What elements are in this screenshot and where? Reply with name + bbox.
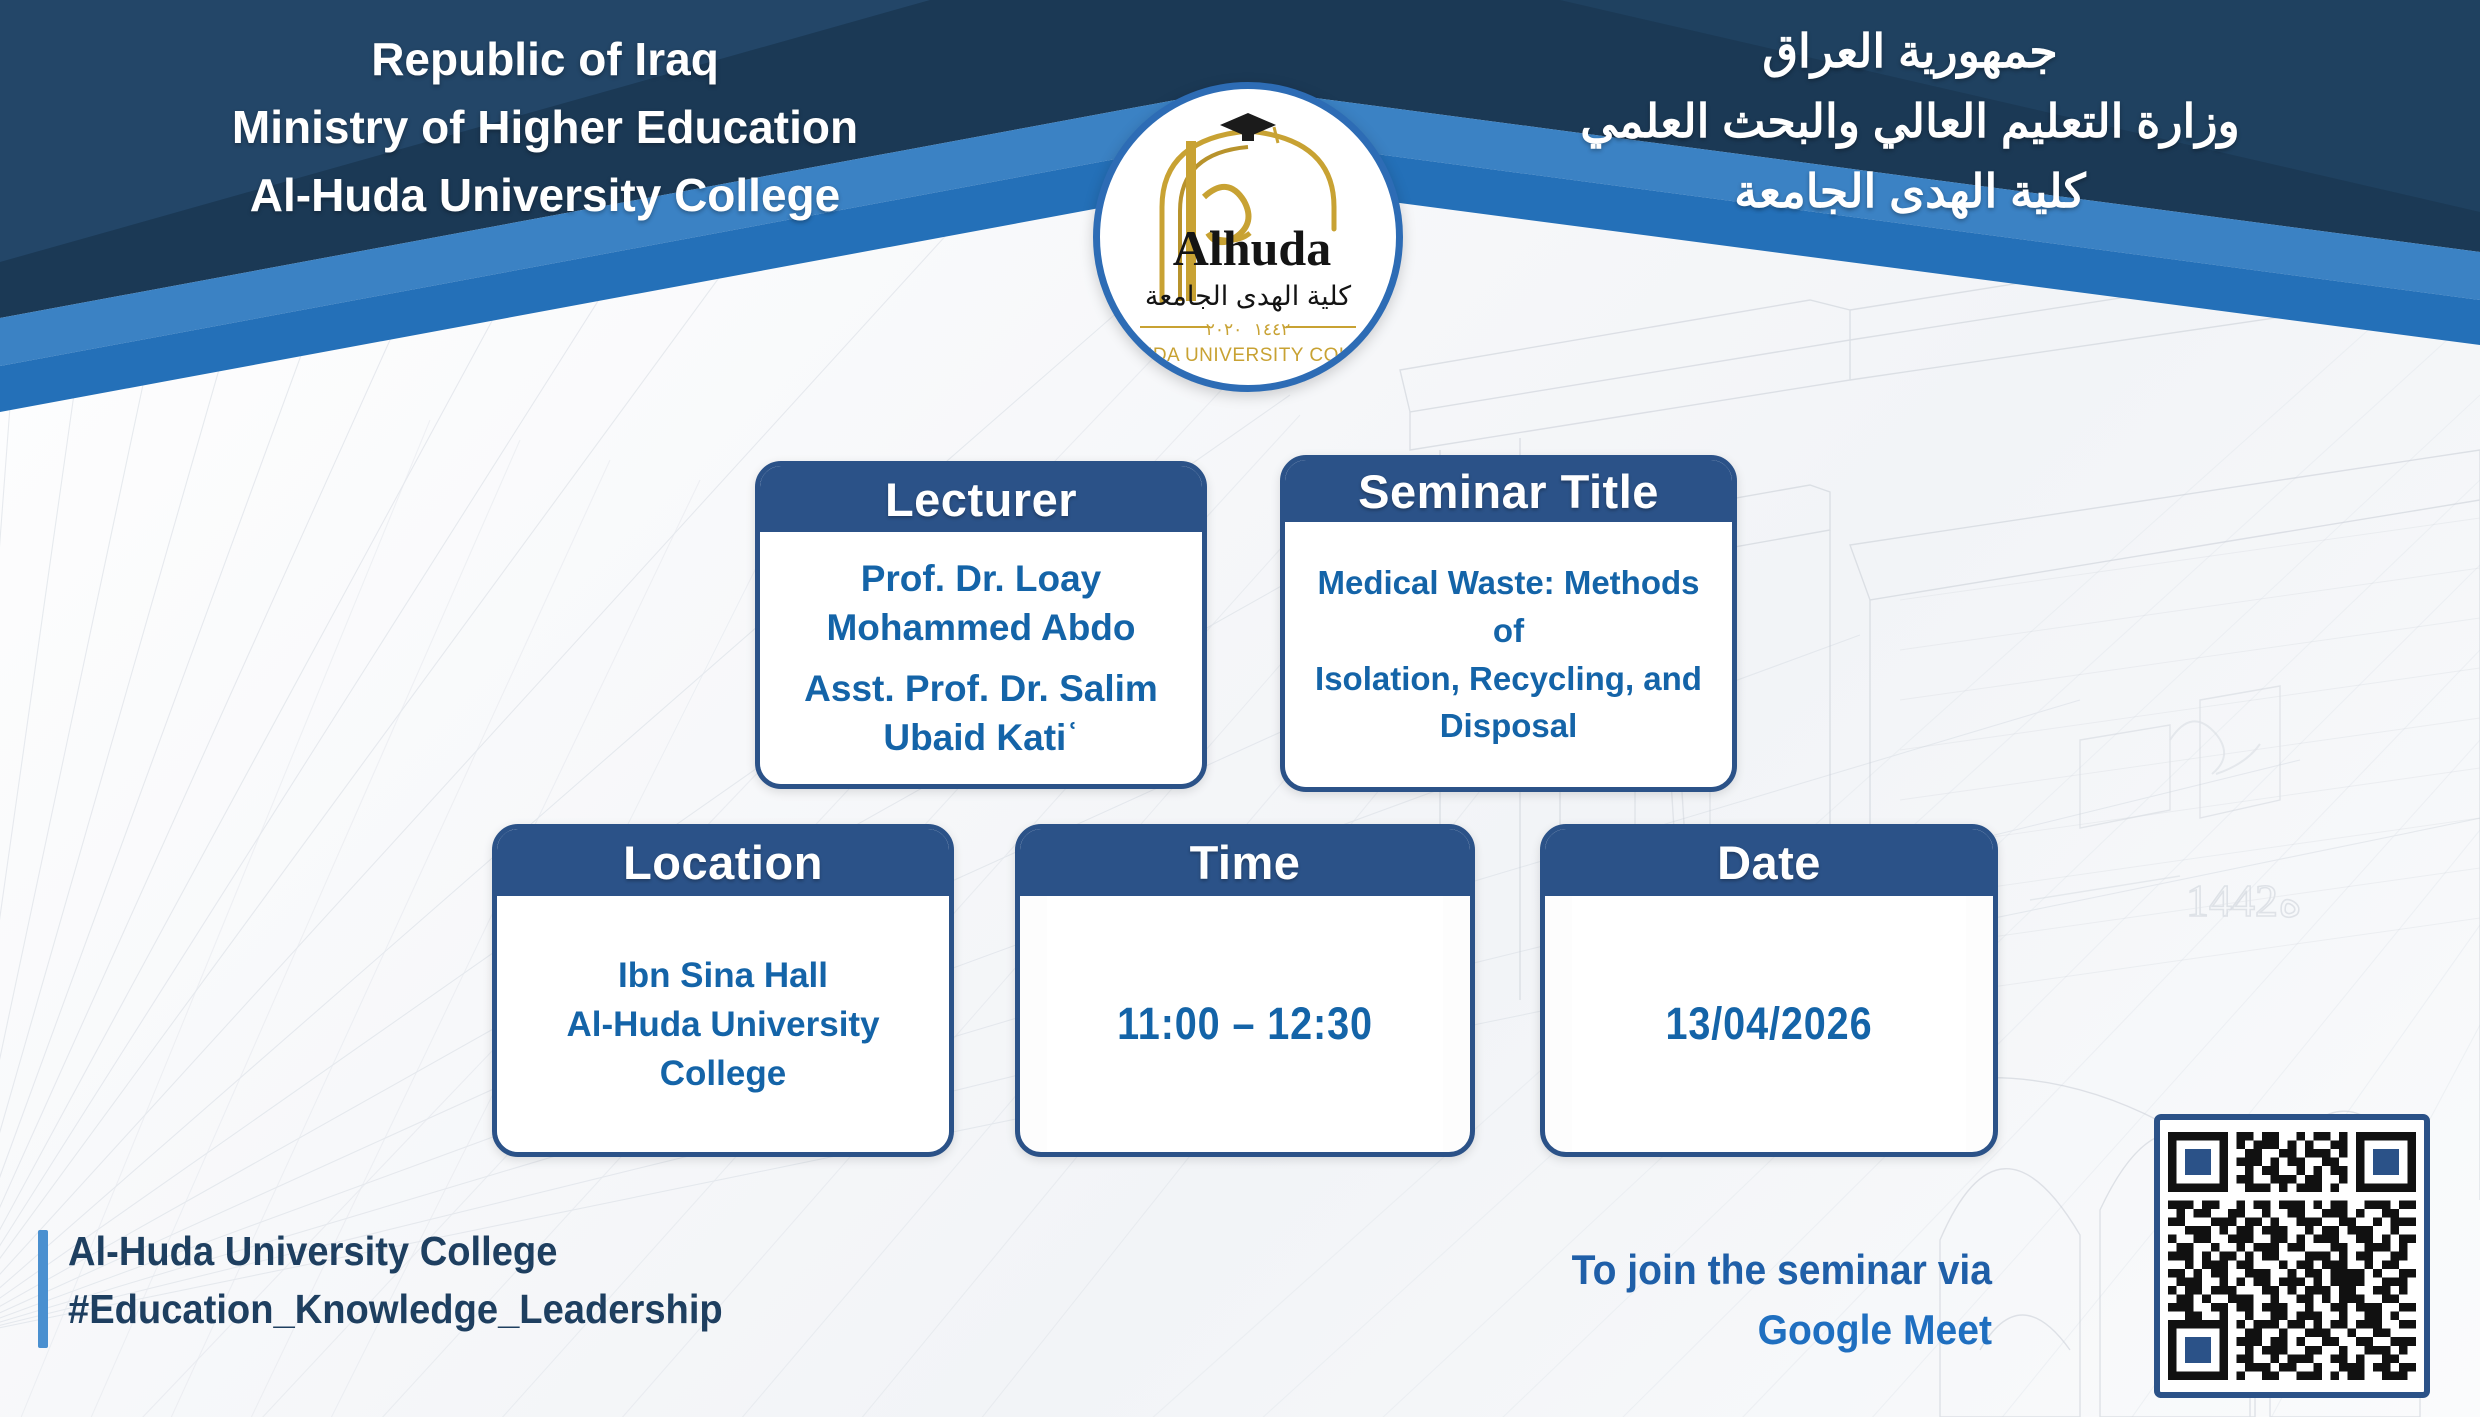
card-seminar-body: Medical Waste: Methods of Isolation, Rec… bbox=[1285, 522, 1732, 787]
lecturer-name-1-line-1: Prof. Dr. Loay bbox=[826, 554, 1135, 603]
header-arabic-line-3: كلية الهدى الجامعة bbox=[1480, 162, 2340, 222]
logo-arabic-name: كلية الهدى الجامعة bbox=[1145, 281, 1351, 312]
seminar-poster: ه1442 Republic of Iraq Ministry of Highe… bbox=[0, 0, 2480, 1417]
join-line-1: To join the seminar via bbox=[1471, 1240, 1992, 1300]
card-location-body: Ibn Sina Hall Al-Huda University College bbox=[497, 896, 949, 1152]
university-logo: Alhuda كلية الهدى الجامعة ٢٠٢٠ ١٤٤٢ AL-H… bbox=[1093, 82, 1403, 392]
footer-accent-bar bbox=[38, 1230, 48, 1348]
lecturer-name-2-line-1: Asst. Prof. Dr. Salim bbox=[804, 664, 1158, 713]
logo-year-hijri: ١٤٤٢ bbox=[1254, 320, 1291, 339]
card-date: Date 13/04/2026 bbox=[1540, 824, 1998, 1157]
card-date-value: 13/04/2026 bbox=[1572, 896, 1966, 1152]
seminar-line-1: Medical Waste: Methods of bbox=[1303, 559, 1714, 655]
header-english-line-3: Al-Huda University College bbox=[150, 166, 940, 226]
header-english-line-2: Ministry of Higher Education bbox=[150, 98, 940, 158]
card-lecturer-title: Lecturer bbox=[760, 466, 1202, 532]
location-line-2: Al-Huda University bbox=[566, 1000, 879, 1049]
header-english-block: Republic of Iraq Ministry of Higher Educ… bbox=[150, 30, 940, 233]
location-line-3: College bbox=[660, 1049, 786, 1098]
svg-text:ه1442: ه1442 bbox=[2186, 875, 2302, 926]
card-lecturer-body: Prof. Dr. Loay Mohammed Abdo Asst. Prof.… bbox=[760, 532, 1202, 784]
seminar-line-2: Isolation, Recycling, and bbox=[1315, 655, 1702, 703]
footer-college-name: Al-Huda University College bbox=[68, 1222, 877, 1280]
qr-code-google-meet[interactable] bbox=[2154, 1114, 2430, 1398]
card-time-title: Time bbox=[1020, 829, 1470, 896]
join-instructions: To join the seminar via Google Meet bbox=[1471, 1240, 1992, 1359]
lecturer-name-1-line-2: Mohammed Abdo bbox=[826, 603, 1135, 652]
lecturer-name-2: Asst. Prof. Dr. Salim Ubaid Katiʿ bbox=[804, 664, 1158, 762]
card-time: Time 11:00 – 12:30 bbox=[1015, 824, 1475, 1157]
card-date-title: Date bbox=[1545, 829, 1993, 896]
qr-code-image bbox=[2168, 1128, 2416, 1384]
logo-year-gregorian: ٢٠٢٠ bbox=[1206, 320, 1243, 339]
card-location-title: Location bbox=[497, 829, 949, 896]
location-line-1: Ibn Sina Hall bbox=[618, 951, 828, 1000]
header-english-line-1: Republic of Iraq bbox=[150, 30, 940, 90]
header-arabic-line-1: جمهورية العراق bbox=[1480, 22, 2340, 82]
header-arabic-block: جمهورية العراق وزارة التعليم العالي والب… bbox=[1480, 22, 2340, 231]
card-lecturer: Lecturer Prof. Dr. Loay Mohammed Abdo As… bbox=[755, 461, 1207, 789]
card-time-value: 11:00 – 12:30 bbox=[1047, 896, 1443, 1152]
footer-hashtag: #Education_Knowledge_Leadership bbox=[68, 1280, 877, 1338]
footer-branding: Al-Huda University College #Education_Kn… bbox=[38, 1222, 938, 1338]
seminar-line-3: Disposal bbox=[1440, 702, 1578, 750]
lecturer-name-1: Prof. Dr. Loay Mohammed Abdo bbox=[826, 554, 1135, 652]
header-arabic-line-2: وزارة التعليم العالي والبحث العلمي bbox=[1480, 92, 2340, 152]
logo-wordmark: Alhuda bbox=[1173, 220, 1331, 276]
lecturer-name-2-line-2: Ubaid Katiʿ bbox=[804, 713, 1158, 762]
card-seminar-title: Seminar Title Medical Waste: Methods of … bbox=[1280, 455, 1737, 792]
card-location: Location Ibn Sina Hall Al-Huda Universit… bbox=[492, 824, 954, 1157]
card-seminar-heading: Seminar Title bbox=[1285, 460, 1732, 522]
join-line-2: Google Meet bbox=[1471, 1300, 1992, 1360]
